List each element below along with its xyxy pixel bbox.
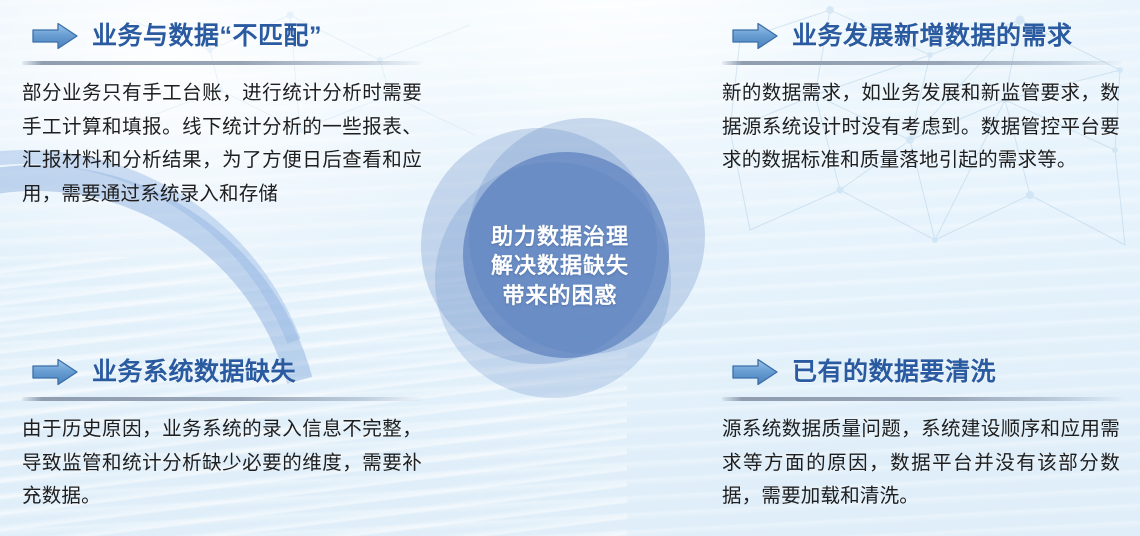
right-arrow-icon xyxy=(732,22,778,50)
quadrant-body: 源系统数据质量问题，系统建设顺序和应用需求等方面的原因，数据平台并没有该部分数据… xyxy=(722,413,1122,514)
quadrant-business-data-mismatch: 业务与数据“不匹配” 部分业务只有手工台账，进行统计分析时需要手工计算和填报。线… xyxy=(22,16,422,211)
quadrant-new-data-demand: 业务发展新增数据的需求 新的数据需求，如业务发展和新监管要求，数据源系统设计时没… xyxy=(722,16,1122,178)
center-label-line-1: 助力数据治理 xyxy=(415,222,705,251)
quadrant-header: 业务发展新增数据的需求 xyxy=(722,16,1122,56)
quadrant-title: 业务系统数据缺失 xyxy=(92,360,296,385)
infographic-slide: 助力数据治理 解决数据缺失 带来的困惑 业务与数据“不匹配” 部分业务只有手工台… xyxy=(0,0,1140,536)
right-arrow-icon xyxy=(32,358,78,386)
quadrant-existing-data-cleaning: 已有的数据要清洗 源系统数据质量问题，系统建设顺序和应用需求等方面的原因，数据平… xyxy=(722,352,1122,514)
center-label-line-3: 带来的困惑 xyxy=(415,281,705,310)
quadrant-header: 业务系统数据缺失 xyxy=(22,352,422,392)
header-divider xyxy=(22,61,422,65)
quadrant-body: 由于历史原因，业务系统的录入信息不完整，导致监管和统计分析缺少必要的维度，需要补… xyxy=(22,413,422,514)
right-arrow-icon xyxy=(732,358,778,386)
center-venn-graphic: 助力数据治理 解决数据缺失 带来的困惑 xyxy=(415,110,705,400)
quadrant-title: 已有的数据要清洗 xyxy=(792,360,996,385)
quadrant-header: 已有的数据要清洗 xyxy=(722,352,1122,392)
quadrant-title: 业务与数据“不匹配” xyxy=(92,24,322,49)
header-divider xyxy=(722,397,1122,401)
quadrant-title: 业务发展新增数据的需求 xyxy=(792,24,1073,49)
quadrant-body: 部分业务只有手工台账，进行统计分析时需要手工计算和填报。线下统计分析的一些报表、… xyxy=(22,77,422,211)
right-arrow-icon xyxy=(32,22,78,50)
center-label-line-2: 解决数据缺失 xyxy=(415,251,705,280)
header-divider xyxy=(22,397,422,401)
center-label: 助力数据治理 解决数据缺失 带来的困惑 xyxy=(415,222,705,310)
header-divider xyxy=(722,61,1122,65)
quadrant-header: 业务与数据“不匹配” xyxy=(22,16,422,56)
quadrant-body: 新的数据需求，如业务发展和新监管要求，数据源系统设计时没有考虑到。数据管控平台要… xyxy=(722,77,1122,178)
quadrant-system-data-missing: 业务系统数据缺失 由于历史原因，业务系统的录入信息不完整，导致监管和统计分析缺少… xyxy=(22,352,422,514)
